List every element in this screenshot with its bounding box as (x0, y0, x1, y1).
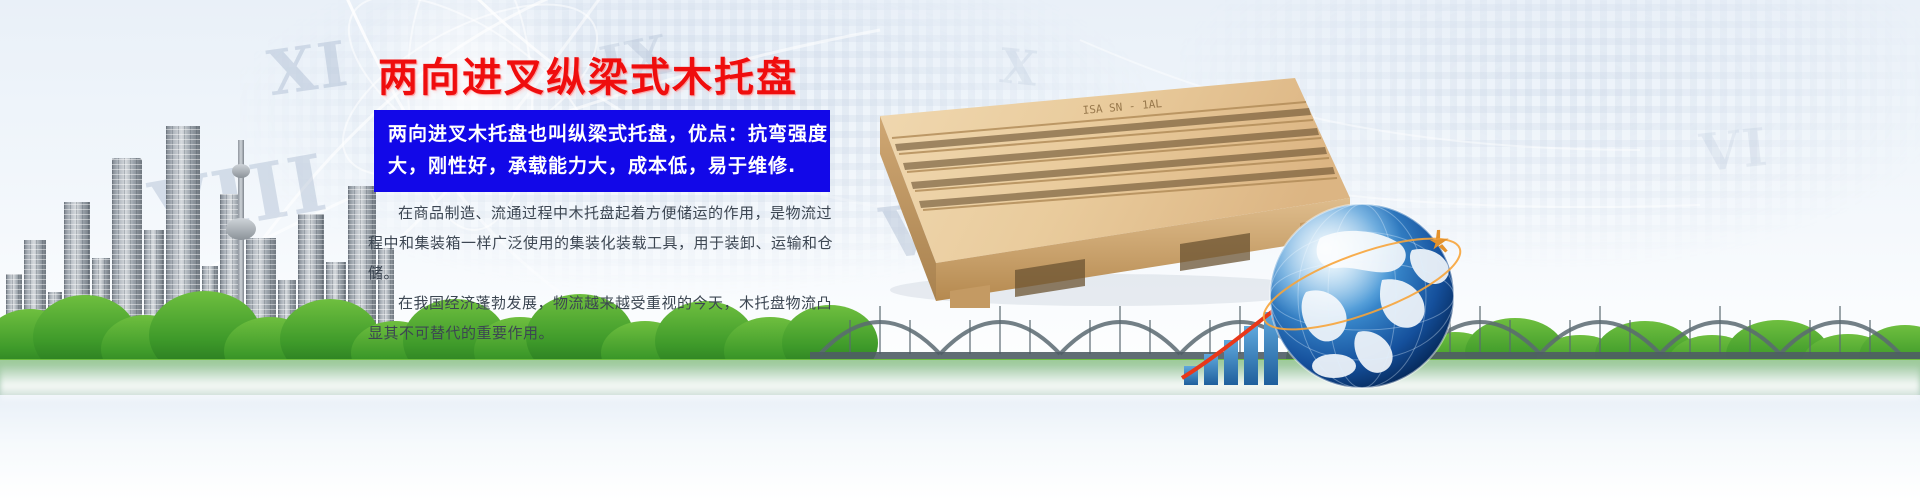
highlight-line-2: 大，刚性好，承载能力大，成本低，易于维修. (388, 150, 818, 182)
body-paragraph-1: 在商品制造、流通过程中木托盘起着方便储运的作用，是物流过程中和集装箱一样广泛使用… (368, 198, 838, 288)
tv-tower-upper-sphere (232, 164, 250, 178)
roman-numeral-vi: VI (1697, 117, 1772, 185)
highlight-line-1: 两向进叉木托盘也叫纵梁式托盘，优点：抗弯强度 (388, 118, 818, 150)
tv-tower-sphere (226, 218, 256, 240)
page-title: 两向进叉纵梁式木托盘 (378, 54, 798, 102)
water-horizon-glow (0, 364, 1920, 404)
earth-globe-graphic (1262, 196, 1462, 396)
highlight-callout-box: 两向进叉木托盘也叫纵梁式托盘，优点：抗弯强度 大，刚性好，承载能力大，成本低，易… (374, 110, 830, 192)
product-banner: XI VIII VII IX X VI (0, 0, 1920, 500)
body-paragraph-2: 在我国经济蓬勃发展，物流越来越受重视的今天，木托盘物流凸显其不可替代的重要作用。 (368, 288, 838, 348)
body-description: 在商品制造、流通过程中木托盘起着方便储运的作用，是物流过程中和集装箱一样广泛使用… (368, 198, 838, 348)
